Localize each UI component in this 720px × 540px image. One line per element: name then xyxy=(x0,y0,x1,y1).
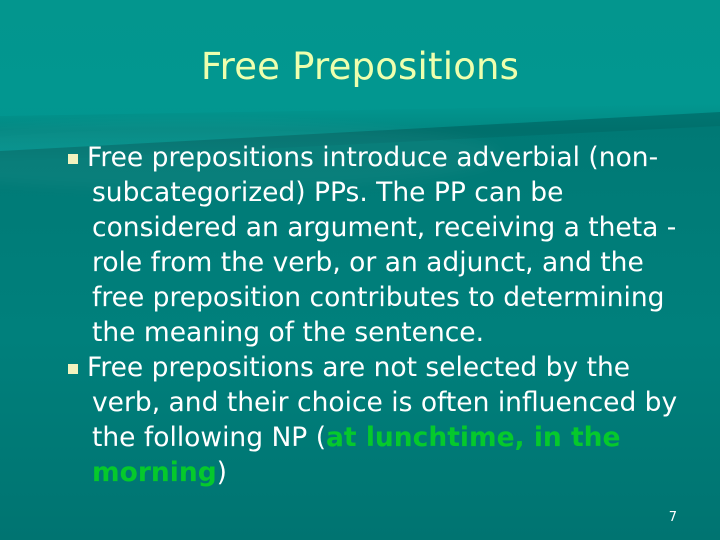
slide: Free Prepositions Free prepositions intr… xyxy=(0,0,720,540)
slide-title: Free Prepositions xyxy=(0,44,720,90)
bullet-text-tail: ) xyxy=(217,457,227,488)
bullet-item: Free prepositions introduce adverbial (n… xyxy=(68,140,704,350)
slide-body: Free prepositions introduce adverbial (n… xyxy=(68,140,704,490)
page-number: 7 xyxy=(669,510,677,526)
bullet-text: Free prepositions introduce adverbial (n… xyxy=(87,142,676,348)
bullet-item: Free prepositions are not selected by th… xyxy=(68,350,704,490)
square-bullet-icon xyxy=(68,154,78,164)
square-bullet-icon xyxy=(68,364,78,374)
